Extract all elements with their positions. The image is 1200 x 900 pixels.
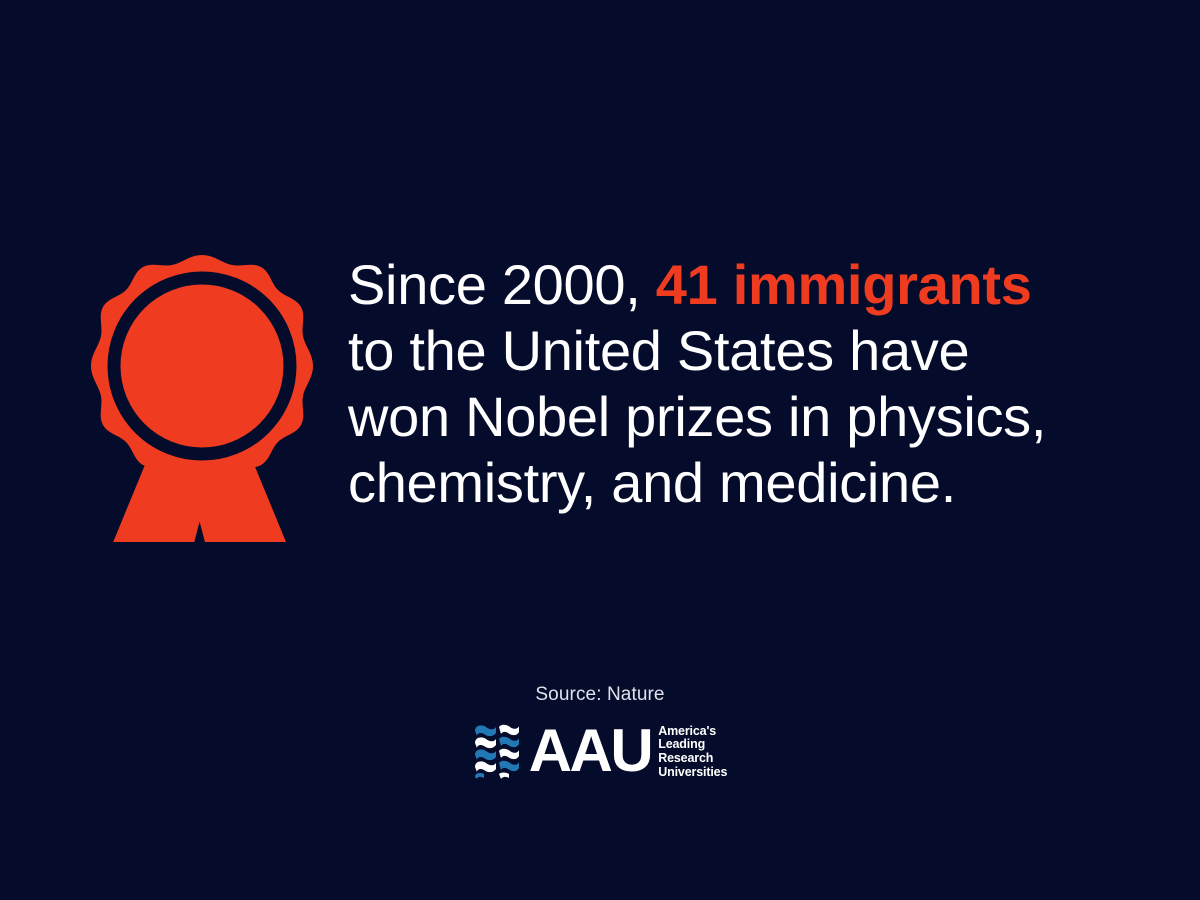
headline-emphasis: 41 immigrants <box>640 253 1031 316</box>
aau-tagline-line-2: Leading <box>658 738 727 752</box>
aau-woven-ribbon-mark-icon <box>473 722 525 780</box>
award-ribbon-rosette-icon <box>82 232 322 542</box>
aau-logo-lockup: AAU America's Leading Research Universit… <box>473 720 728 782</box>
footer-block: Source: Nature <box>0 684 1200 782</box>
aau-tagline-line-1: America's <box>658 725 727 739</box>
headline-block: Since 2000, 41 immigrants to the United … <box>348 252 1078 516</box>
infographic-canvas: Since 2000, 41 immigrants to the United … <box>0 0 1200 900</box>
headline-line-4: chemistry, and medicine. <box>348 450 1078 516</box>
source-attribution: Source: Nature <box>535 684 664 706</box>
headline-line-1-text: Since 2000, <box>348 253 640 316</box>
aau-tagline-line-4: Universities <box>658 766 727 780</box>
aau-wordmark: AAU <box>529 722 652 780</box>
headline-line-1: Since 2000, 41 immigrants <box>348 252 1078 318</box>
headline-line-3: won Nobel prizes in physics, <box>348 384 1078 450</box>
headline-line-2: to the United States have <box>348 318 1078 384</box>
aau-tagline: America's Leading Research Universities <box>658 721 727 781</box>
aau-tagline-line-3: Research <box>658 752 727 766</box>
